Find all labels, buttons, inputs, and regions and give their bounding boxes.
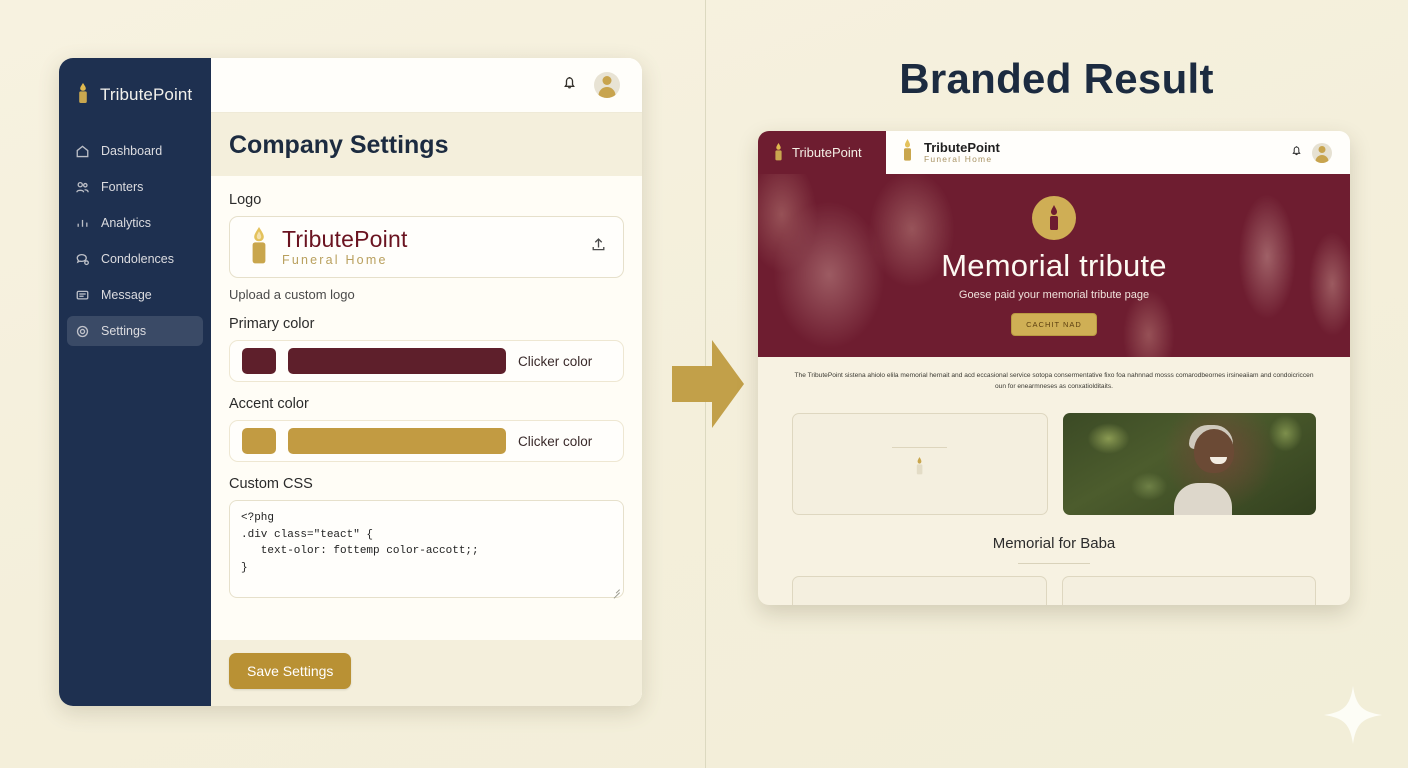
sidebar-item-condolences[interactable]: Condolences <box>67 244 203 274</box>
accent-color-action[interactable]: Clicker color <box>518 434 592 449</box>
sidebar-item-analytics[interactable]: Analytics <box>67 208 203 238</box>
sidebar-item-settings[interactable]: Settings <box>67 316 203 346</box>
logo-field-label: Logo <box>229 192 624 208</box>
logo-hint: Upload a custom logo <box>229 287 624 302</box>
accent-color-swatch[interactable] <box>242 428 276 454</box>
sidebar-item-label: Dashboard <box>101 144 162 158</box>
primary-color-action[interactable]: Clicker color <box>518 354 592 369</box>
sparkle-icon <box>1322 684 1384 746</box>
app-main: Company Settings Logo <box>211 58 642 706</box>
bell-icon[interactable] <box>561 74 578 96</box>
page-title: Company Settings <box>229 131 642 160</box>
candle-icon <box>75 82 91 109</box>
form-footer: Save Settings <box>211 640 642 706</box>
settings-form: Logo TributePoint Funeral Home <box>211 176 642 640</box>
bell-icon[interactable] <box>1290 144 1303 162</box>
accent-color-bar[interactable] <box>288 428 506 454</box>
home-icon <box>75 144 90 159</box>
user-avatar-icon[interactable] <box>1312 143 1332 163</box>
app-topbar <box>211 58 642 113</box>
primary-color-swatch[interactable] <box>242 348 276 374</box>
logo-subtitle: Funeral Home <box>282 253 408 267</box>
sidebar-item-label: Analytics <box>101 216 151 230</box>
primary-color-label: Primary color <box>229 316 624 332</box>
save-settings-button[interactable]: Save Settings <box>229 653 351 689</box>
bottom-card[interactable] <box>1062 576 1317 605</box>
app-sidebar: TributePoint Dashboard Fonters <box>59 58 211 706</box>
logo-title: TributePoint <box>282 227 408 251</box>
preview-gallery <box>792 413 1316 515</box>
photo-body <box>1174 483 1232 515</box>
photo-smile <box>1210 457 1227 464</box>
bottom-card[interactable] <box>792 576 1047 605</box>
candle-icon <box>772 142 785 164</box>
branded-result-heading: Branded Result <box>705 55 1408 103</box>
preview-paragraph: The TributePoint sistena ahiolo elila me… <box>792 371 1316 393</box>
user-avatar-icon[interactable] <box>594 72 620 98</box>
preview-topbar: TributePoint Funeral Home <box>886 131 1350 174</box>
sidebar-nav: Dashboard Fonters Analytics <box>59 136 211 346</box>
resize-handle-icon[interactable] <box>611 585 620 594</box>
accent-color-label: Accent color <box>229 396 624 412</box>
sidebar-brand: TributePoint <box>59 58 211 114</box>
sidebar-item-fonters[interactable]: Fonters <box>67 172 203 202</box>
custom-css-label: Custom CSS <box>229 476 624 492</box>
right-arrow-icon <box>672 338 744 430</box>
gallery-photo-card[interactable] <box>1063 413 1317 515</box>
candle-icon <box>1032 196 1076 240</box>
memorial-title: Memorial for Baba <box>792 535 1316 552</box>
preview-logo-subtitle: Funeral Home <box>924 154 1000 164</box>
users-icon <box>75 180 90 195</box>
accent-color-field[interactable]: Clicker color <box>229 420 624 462</box>
preview-brand-strip: TributePoint <box>758 131 886 174</box>
primary-color-bar[interactable] <box>288 348 506 374</box>
logo-preview: TributePoint Funeral Home <box>246 225 578 270</box>
sidebar-item-label: Fonters <box>101 180 143 194</box>
preview-body: The TributePoint sistena ahiolo elila me… <box>758 357 1350 605</box>
gallery-placeholder-card[interactable] <box>792 413 1048 515</box>
sidebar-brand-label: TributePoint <box>100 85 192 105</box>
placeholder-divider <box>892 447 947 449</box>
hero-subtitle: Goese paid your memorial tribute page <box>959 289 1149 301</box>
logo-upload-field[interactable]: TributePoint Funeral Home <box>229 216 624 278</box>
candle-icon <box>246 225 272 270</box>
settings-app-window: TributePoint Dashboard Fonters <box>59 58 642 706</box>
custom-css-value: <?phg .div class="teact" { text-olor: fo… <box>241 510 612 576</box>
candle-icon <box>913 456 926 481</box>
upload-icon[interactable] <box>590 236 607 258</box>
preview-hero: Memorial tribute Goese paid your memoria… <box>758 174 1350 357</box>
branded-result-preview: TributePoint TributePoint Funeral Home <box>758 131 1350 605</box>
preview-logo-title: TributePoint <box>924 141 1000 155</box>
hero-title: Memorial tribute <box>941 248 1166 284</box>
photo-face <box>1194 429 1234 473</box>
sidebar-item-dashboard[interactable]: Dashboard <box>67 136 203 166</box>
sidebar-item-label: Settings <box>101 324 146 338</box>
sidebar-item-message[interactable]: Message <box>67 280 203 310</box>
sidebar-item-label: Condolences <box>101 252 174 266</box>
preview-topstrip: TributePoint TributePoint Funeral Home <box>758 131 1350 174</box>
custom-css-textarea[interactable]: <?phg .div class="teact" { text-olor: fo… <box>229 500 624 598</box>
primary-color-field[interactable]: Clicker color <box>229 340 624 382</box>
gear-icon <box>75 324 90 339</box>
stage: TributePoint Dashboard Fonters <box>0 0 1408 768</box>
page-header: Company Settings <box>211 113 642 176</box>
message-icon <box>75 288 90 303</box>
bar-chart-icon <box>75 216 90 231</box>
candle-icon <box>900 138 915 167</box>
memorial-divider <box>1018 563 1090 565</box>
chat-bubble-icon <box>75 252 90 267</box>
preview-bottom-cards <box>792 576 1316 605</box>
hero-cta-button[interactable]: CACHIT NAD <box>1011 313 1097 336</box>
sidebar-item-label: Message <box>101 288 152 302</box>
preview-brand-label: TributePoint <box>792 145 862 160</box>
